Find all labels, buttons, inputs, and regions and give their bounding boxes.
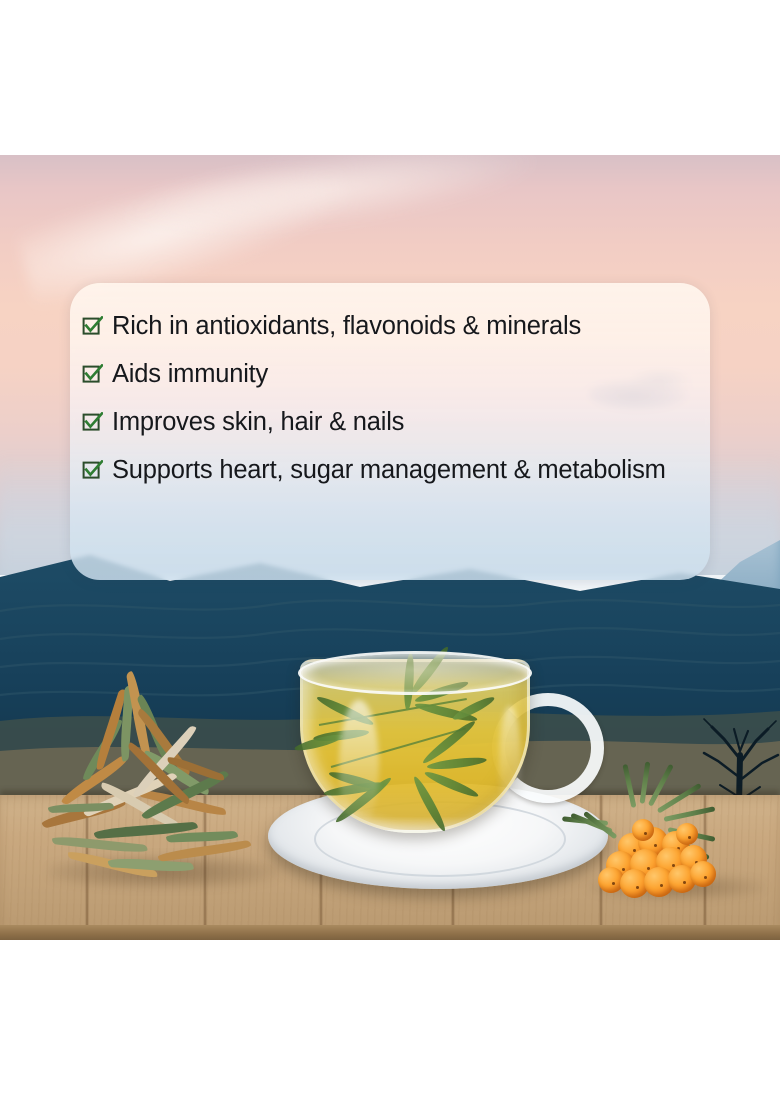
benefit-item: Rich in antioxidants, flavonoids & miner… [82,309,692,343]
benefit-label: Rich in antioxidants, flavonoids & miner… [112,309,581,343]
table-front-edge [0,925,780,940]
infographic-canvas: Rich in antioxidants, flavonoids & miner… [0,0,780,1108]
benefits-list: Rich in antioxidants, flavonoids & miner… [82,309,692,487]
sea-buckthorn-berries [572,775,777,905]
benefit-label: Aids immunity [112,357,268,391]
checkbox-checked-icon [82,364,103,385]
benefit-label: Improves skin, hair & nails [112,405,404,439]
dried-sea-buckthorn-leaves [38,735,288,895]
benefit-item: Supports heart, sugar management & metab… [82,453,692,487]
benefit-item: Aids immunity [82,357,692,391]
cup-highlight [499,706,521,816]
checkbox-checked-icon [82,412,103,433]
cup-rim [298,651,532,695]
benefit-label: Supports heart, sugar management & metab… [112,453,666,487]
benefit-item: Improves skin, hair & nails [82,405,692,439]
checkbox-checked-icon [82,316,103,337]
benefits-card: Rich in antioxidants, flavonoids & miner… [70,283,710,580]
cup-highlight [339,700,379,830]
checkbox-checked-icon [82,460,103,481]
glass-teacup-with-saucer [278,635,608,905]
